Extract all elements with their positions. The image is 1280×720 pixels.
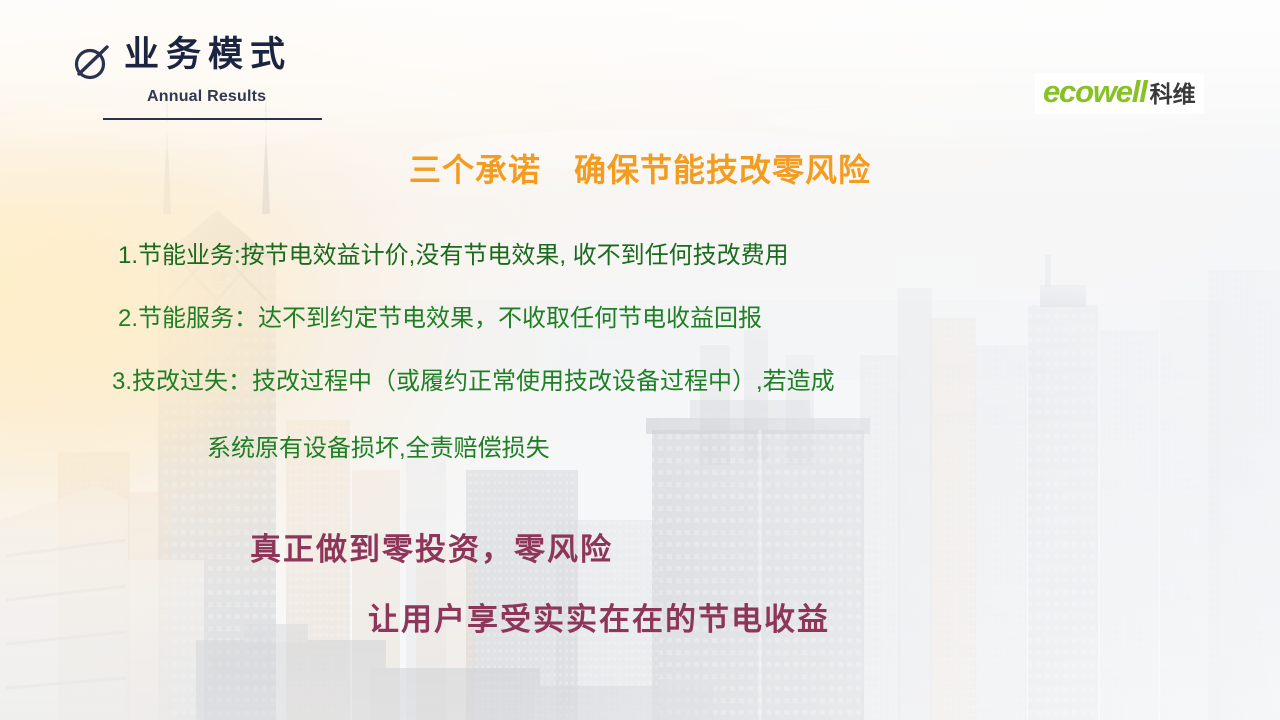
title-divider — [103, 118, 322, 120]
closing-statement-2: 让用户享受实实在在的节电收益 — [368, 600, 830, 640]
page-title: 业务模式 — [124, 33, 292, 77]
page-subtitle: Annual Results — [147, 88, 266, 106]
content-bullet-2: 2.节能服务：达不到约定节电效果，不收取任何节电收益回报 — [118, 303, 762, 335]
closing-statement-1: 真正做到零投资，零风险 — [250, 530, 613, 570]
slashed-circle-icon — [70, 38, 116, 84]
presentation-slide: 业务模式 Annual Results ecowell 科维 三个承诺 确保节能… — [0, 0, 1280, 720]
content-headline: 三个承诺 确保节能技改零风险 — [0, 145, 1280, 191]
content-bullet-1: 1.节能业务:按节电效益计价,没有节电效果, 收不到任何技改费用 — [118, 240, 789, 272]
brand-name-en: ecowell — [1043, 76, 1147, 108]
brand-name-cn: 科维 — [1150, 78, 1196, 110]
brand-logo: ecowell 科维 — [1035, 73, 1204, 114]
content-bullet-3: 3.技改过失：技改过程中（或履约正常使用技改设备过程中）,若造成 — [112, 366, 835, 398]
content-bullet-3-continuation: 系统原有设备损坏,全责赔偿损失 — [207, 433, 550, 465]
